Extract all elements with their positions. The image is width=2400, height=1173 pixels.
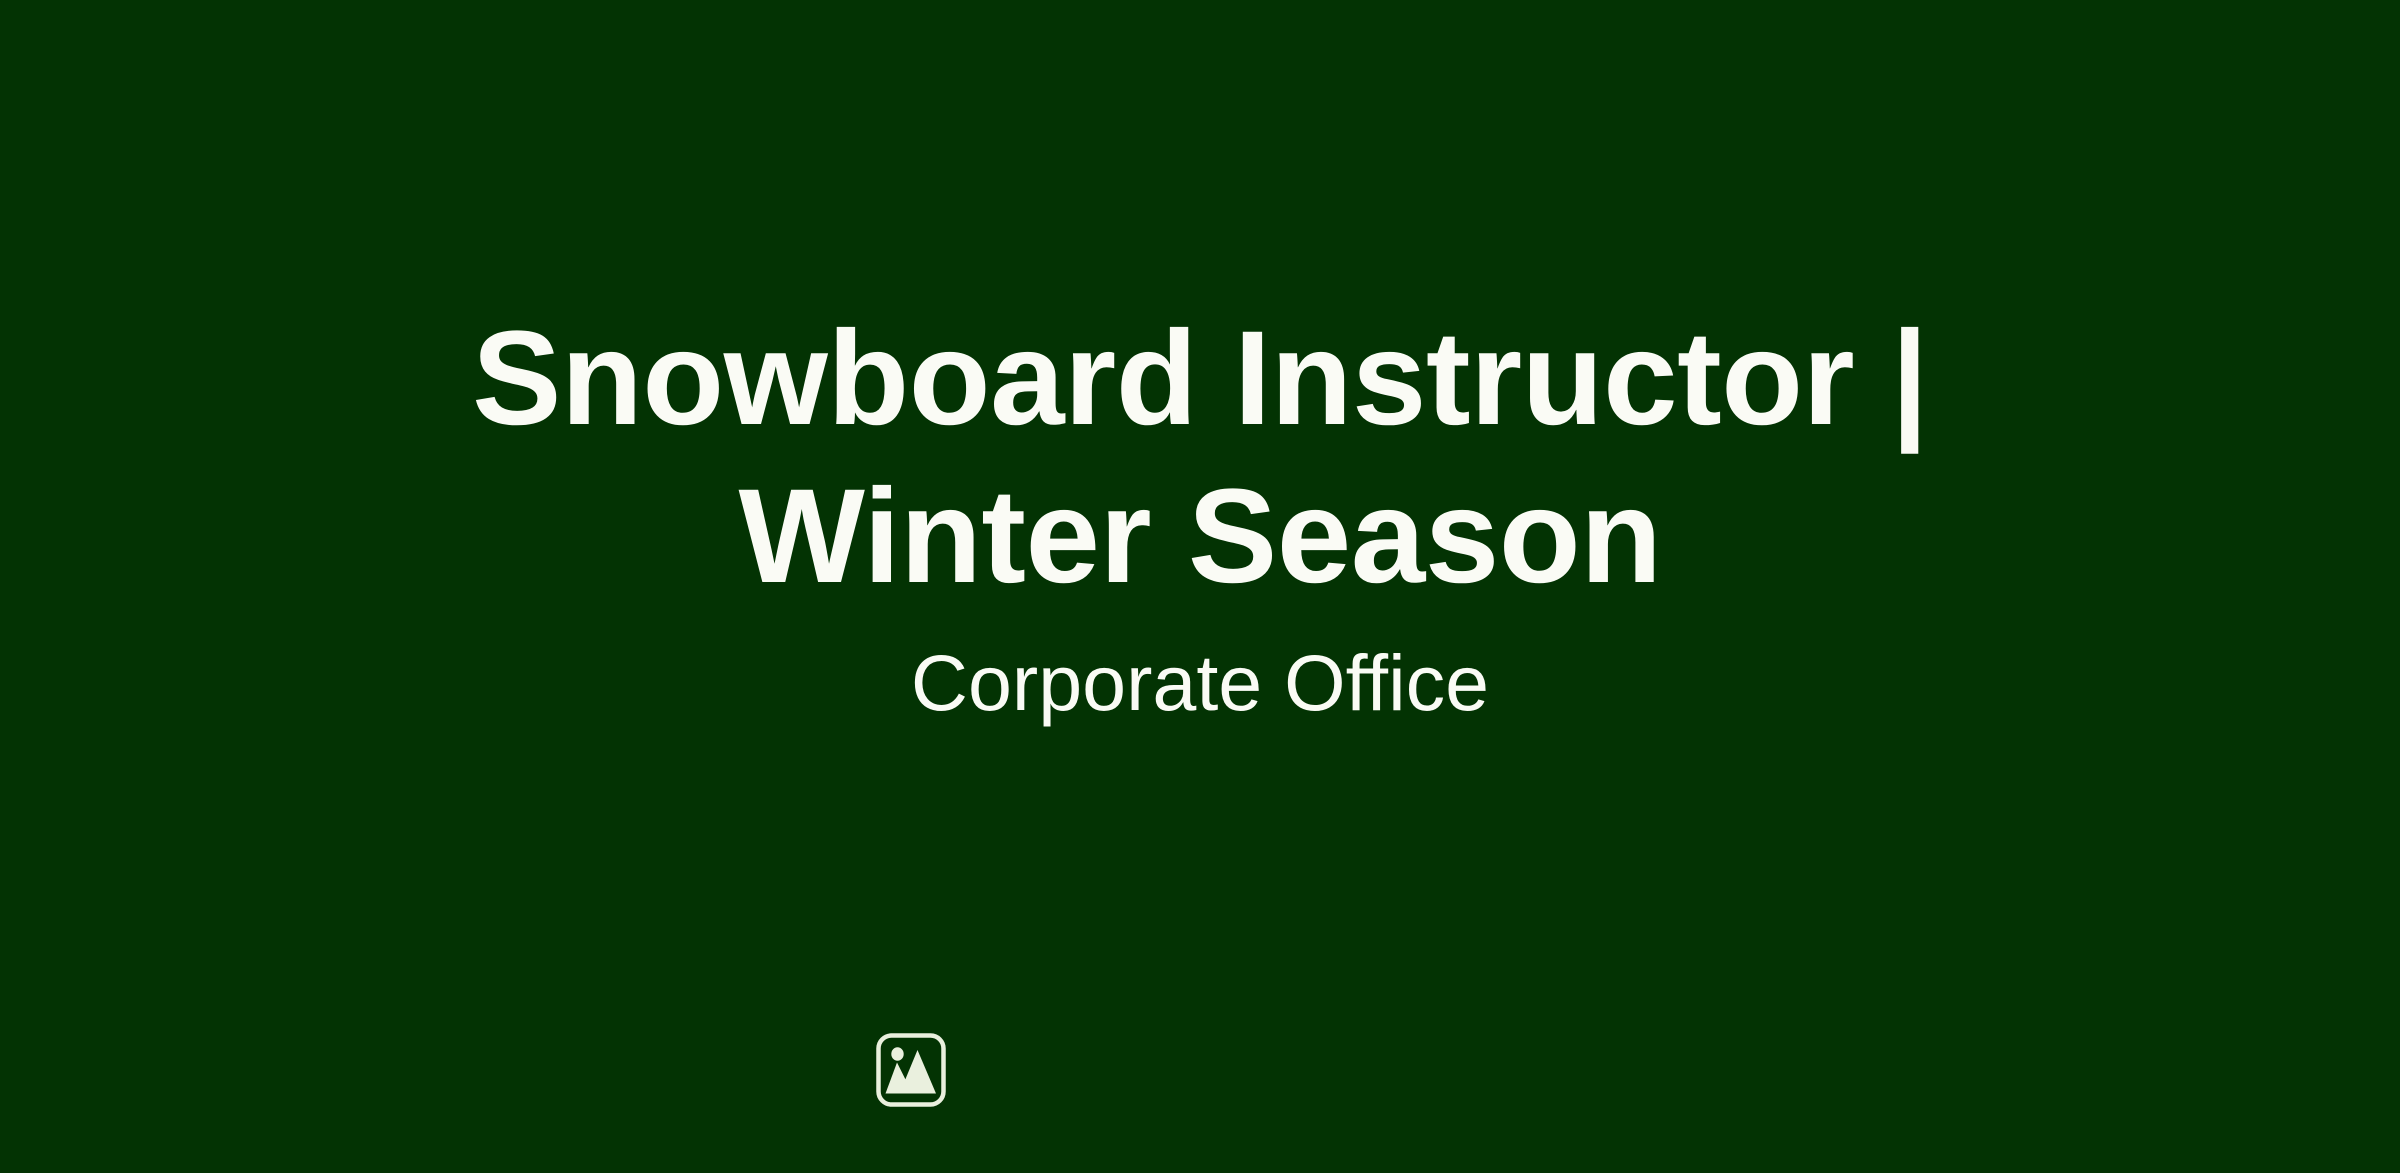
title-text-block: Snowboard Instructor | Winter Season Cor… — [0, 300, 2400, 729]
media-placeholder-row — [874, 1031, 948, 1109]
page-subtitle: Corporate Office — [911, 638, 1489, 729]
title-slide: Snowboard Instructor | Winter Season Cor… — [0, 0, 2400, 1173]
page-title: Snowboard Instructor | Winter Season — [350, 300, 2050, 616]
image-placeholder-icon — [874, 1031, 948, 1109]
